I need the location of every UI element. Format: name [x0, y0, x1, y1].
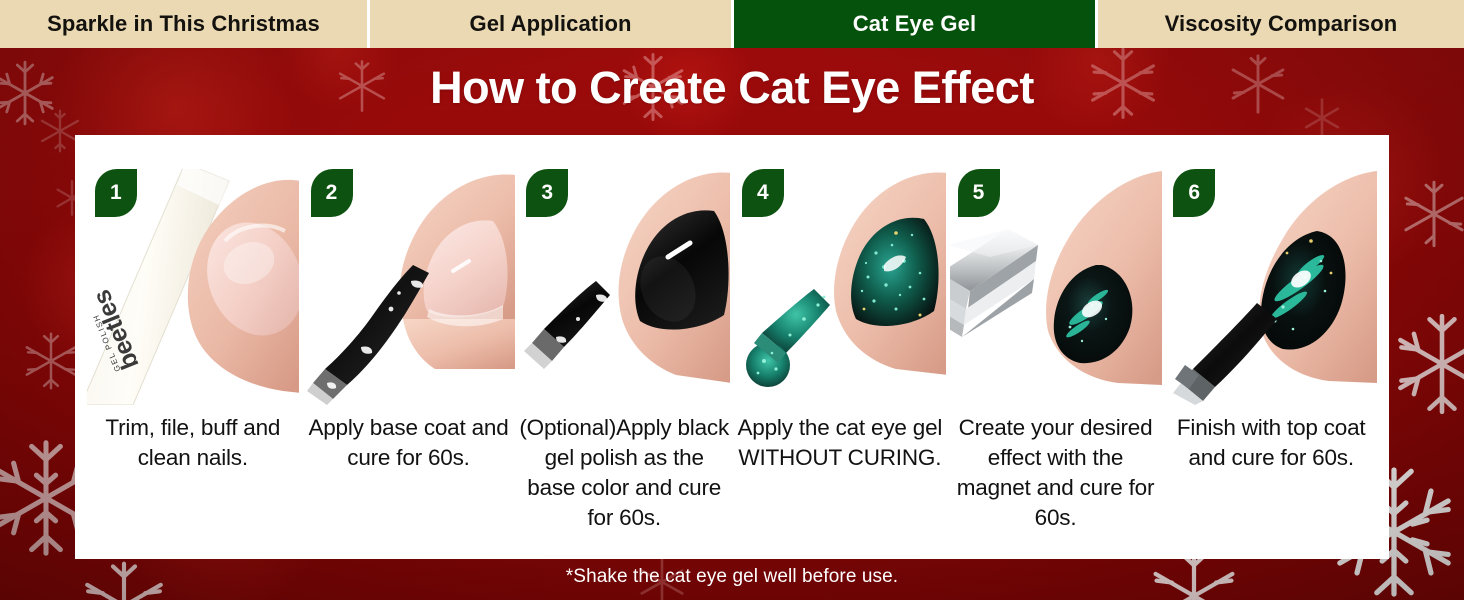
cat-eye-gel-brush-photo: 4	[734, 169, 946, 405]
tab-sparkle-in-this-christmas[interactable]: Sparkle in This Christmas	[0, 0, 370, 48]
step-caption: Apply the cat eye gel WITHOUT CURING.	[735, 413, 945, 473]
steps-list: beetles GEL POLISH ® 1 Trim, file, buff …	[75, 135, 1389, 559]
step-number: 1	[110, 181, 122, 205]
step-item: 4 Apply the cat eye gel WITHOUT CURING.	[732, 147, 948, 559]
tab-gel-application[interactable]: Gel Application	[370, 0, 734, 48]
tab-label: Gel Application	[469, 11, 631, 37]
step-number-badge: 2	[311, 169, 353, 217]
step-number: 3	[541, 181, 553, 205]
black-gel-polish-photo: 3	[518, 169, 730, 405]
step-number: 5	[973, 181, 985, 205]
step-caption: Apply base coat and cure for 60s.	[304, 413, 514, 473]
tab-label: Sparkle in This Christmas	[47, 11, 320, 37]
tab-viscosity-comparison[interactable]: Viscosity Comparison	[1098, 0, 1464, 48]
step-item: beetles GEL POLISH ® 1 Trim, file, buff …	[85, 147, 301, 559]
step-item: 6 Finish with top coat and cure for 60s.	[1163, 147, 1379, 559]
top-coat-brush-photo: 6	[1165, 169, 1377, 405]
footnote-text: *Shake the cat eye gel well before use.	[0, 566, 1464, 588]
magnet-tool-photo: 5	[950, 169, 1162, 405]
step-number: 2	[326, 181, 338, 205]
step-caption: Finish with top coat and cure for 60s.	[1166, 413, 1376, 473]
tab-bar: Sparkle in This Christmas Gel Applicatio…	[0, 0, 1464, 48]
step-item: 2 Apply base coat and cure for 60s.	[301, 147, 517, 559]
step-caption: Create your desired effect with the magn…	[951, 413, 1161, 533]
step-number-badge: 5	[958, 169, 1000, 217]
step-caption: (Optional)Apply black gel polish as the …	[519, 413, 729, 533]
step-item: 3 (Optional)Apply black gel polish as th…	[516, 147, 732, 559]
step-number: 4	[757, 181, 769, 205]
step-caption: Trim, file, buff and clean nails.	[88, 413, 298, 473]
step-number-badge: 4	[742, 169, 784, 217]
step-number-badge: 1	[95, 169, 137, 217]
tab-label: Viscosity Comparison	[1165, 11, 1398, 37]
step-number: 6	[1188, 181, 1200, 205]
tab-cat-eye-gel[interactable]: Cat Eye Gel	[734, 0, 1098, 48]
page-title: How to Create Cat Eye Effect	[0, 62, 1464, 114]
base-coat-brush-photo: 2	[303, 169, 515, 405]
christmas-cat-eye-gel-banner: Sparkle in This Christmas Gel Applicatio…	[0, 0, 1464, 600]
step-number-badge: 3	[526, 169, 568, 217]
step-number-badge: 6	[1173, 169, 1215, 217]
step-item: 5 Create your desired effect with the ma…	[948, 147, 1164, 559]
nail-file-buff-photo: beetles GEL POLISH ® 1	[87, 169, 299, 405]
tab-label: Cat Eye Gel	[853, 11, 976, 37]
steps-card: beetles GEL POLISH ® 1 Trim, file, buff …	[75, 135, 1389, 559]
